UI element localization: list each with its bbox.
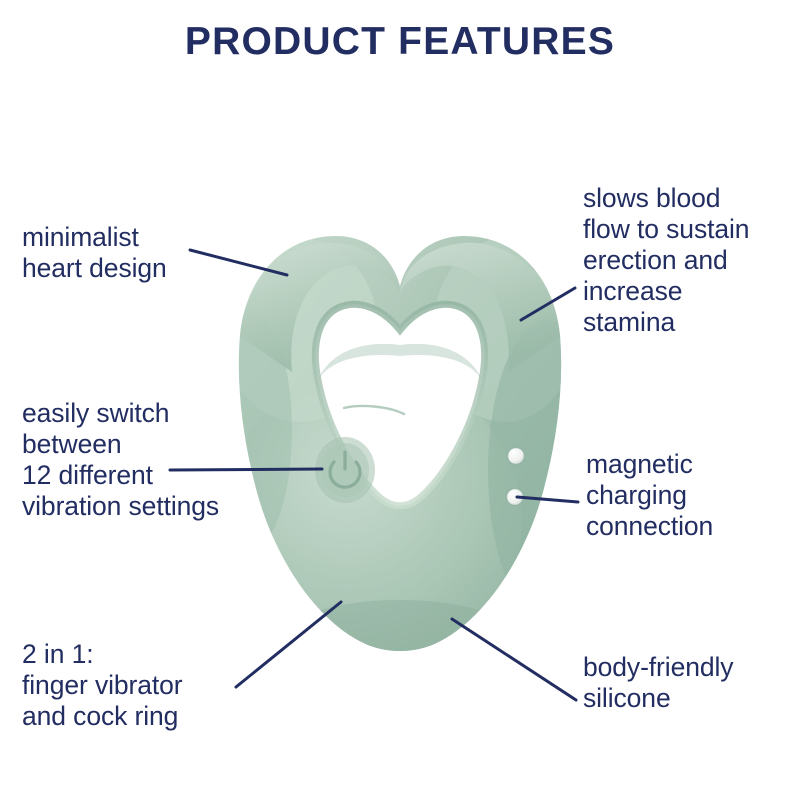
callout-slows-blood-flow: slows blood flow to sustain erection and… — [583, 183, 798, 338]
callout-body-friendly-silicone: body-friendly silicone — [583, 652, 798, 714]
callout-minimalist-heart-design: minimalist heart design — [22, 222, 272, 284]
bottom-shadow — [270, 600, 530, 696]
power-button[interactable] — [315, 437, 375, 503]
callout-magnetic-charging: magnetic charging connection — [586, 449, 796, 542]
product-features-infographic: PRODUCT FEATURES — [0, 0, 800, 800]
callout-two-in-one: 2 in 1: finger vibrator and cock ring — [22, 639, 282, 732]
leader-line-silicone — [452, 619, 576, 700]
callout-vibration-settings: easily switch between 12 different vibra… — [22, 398, 282, 522]
